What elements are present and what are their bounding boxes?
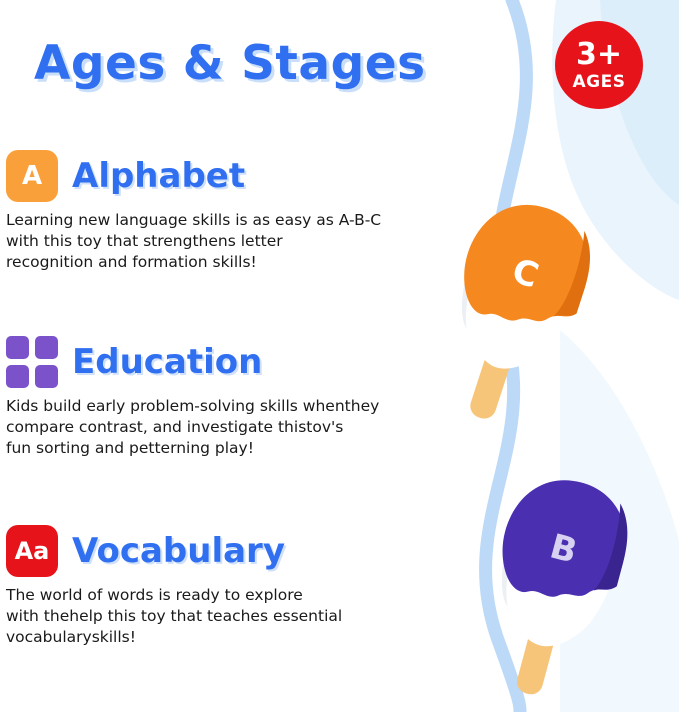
purple-popsicle: B	[466, 467, 640, 709]
orange-popsicle: C	[421, 189, 605, 436]
popsicle-illustrations: C B	[0, 0, 679, 712]
